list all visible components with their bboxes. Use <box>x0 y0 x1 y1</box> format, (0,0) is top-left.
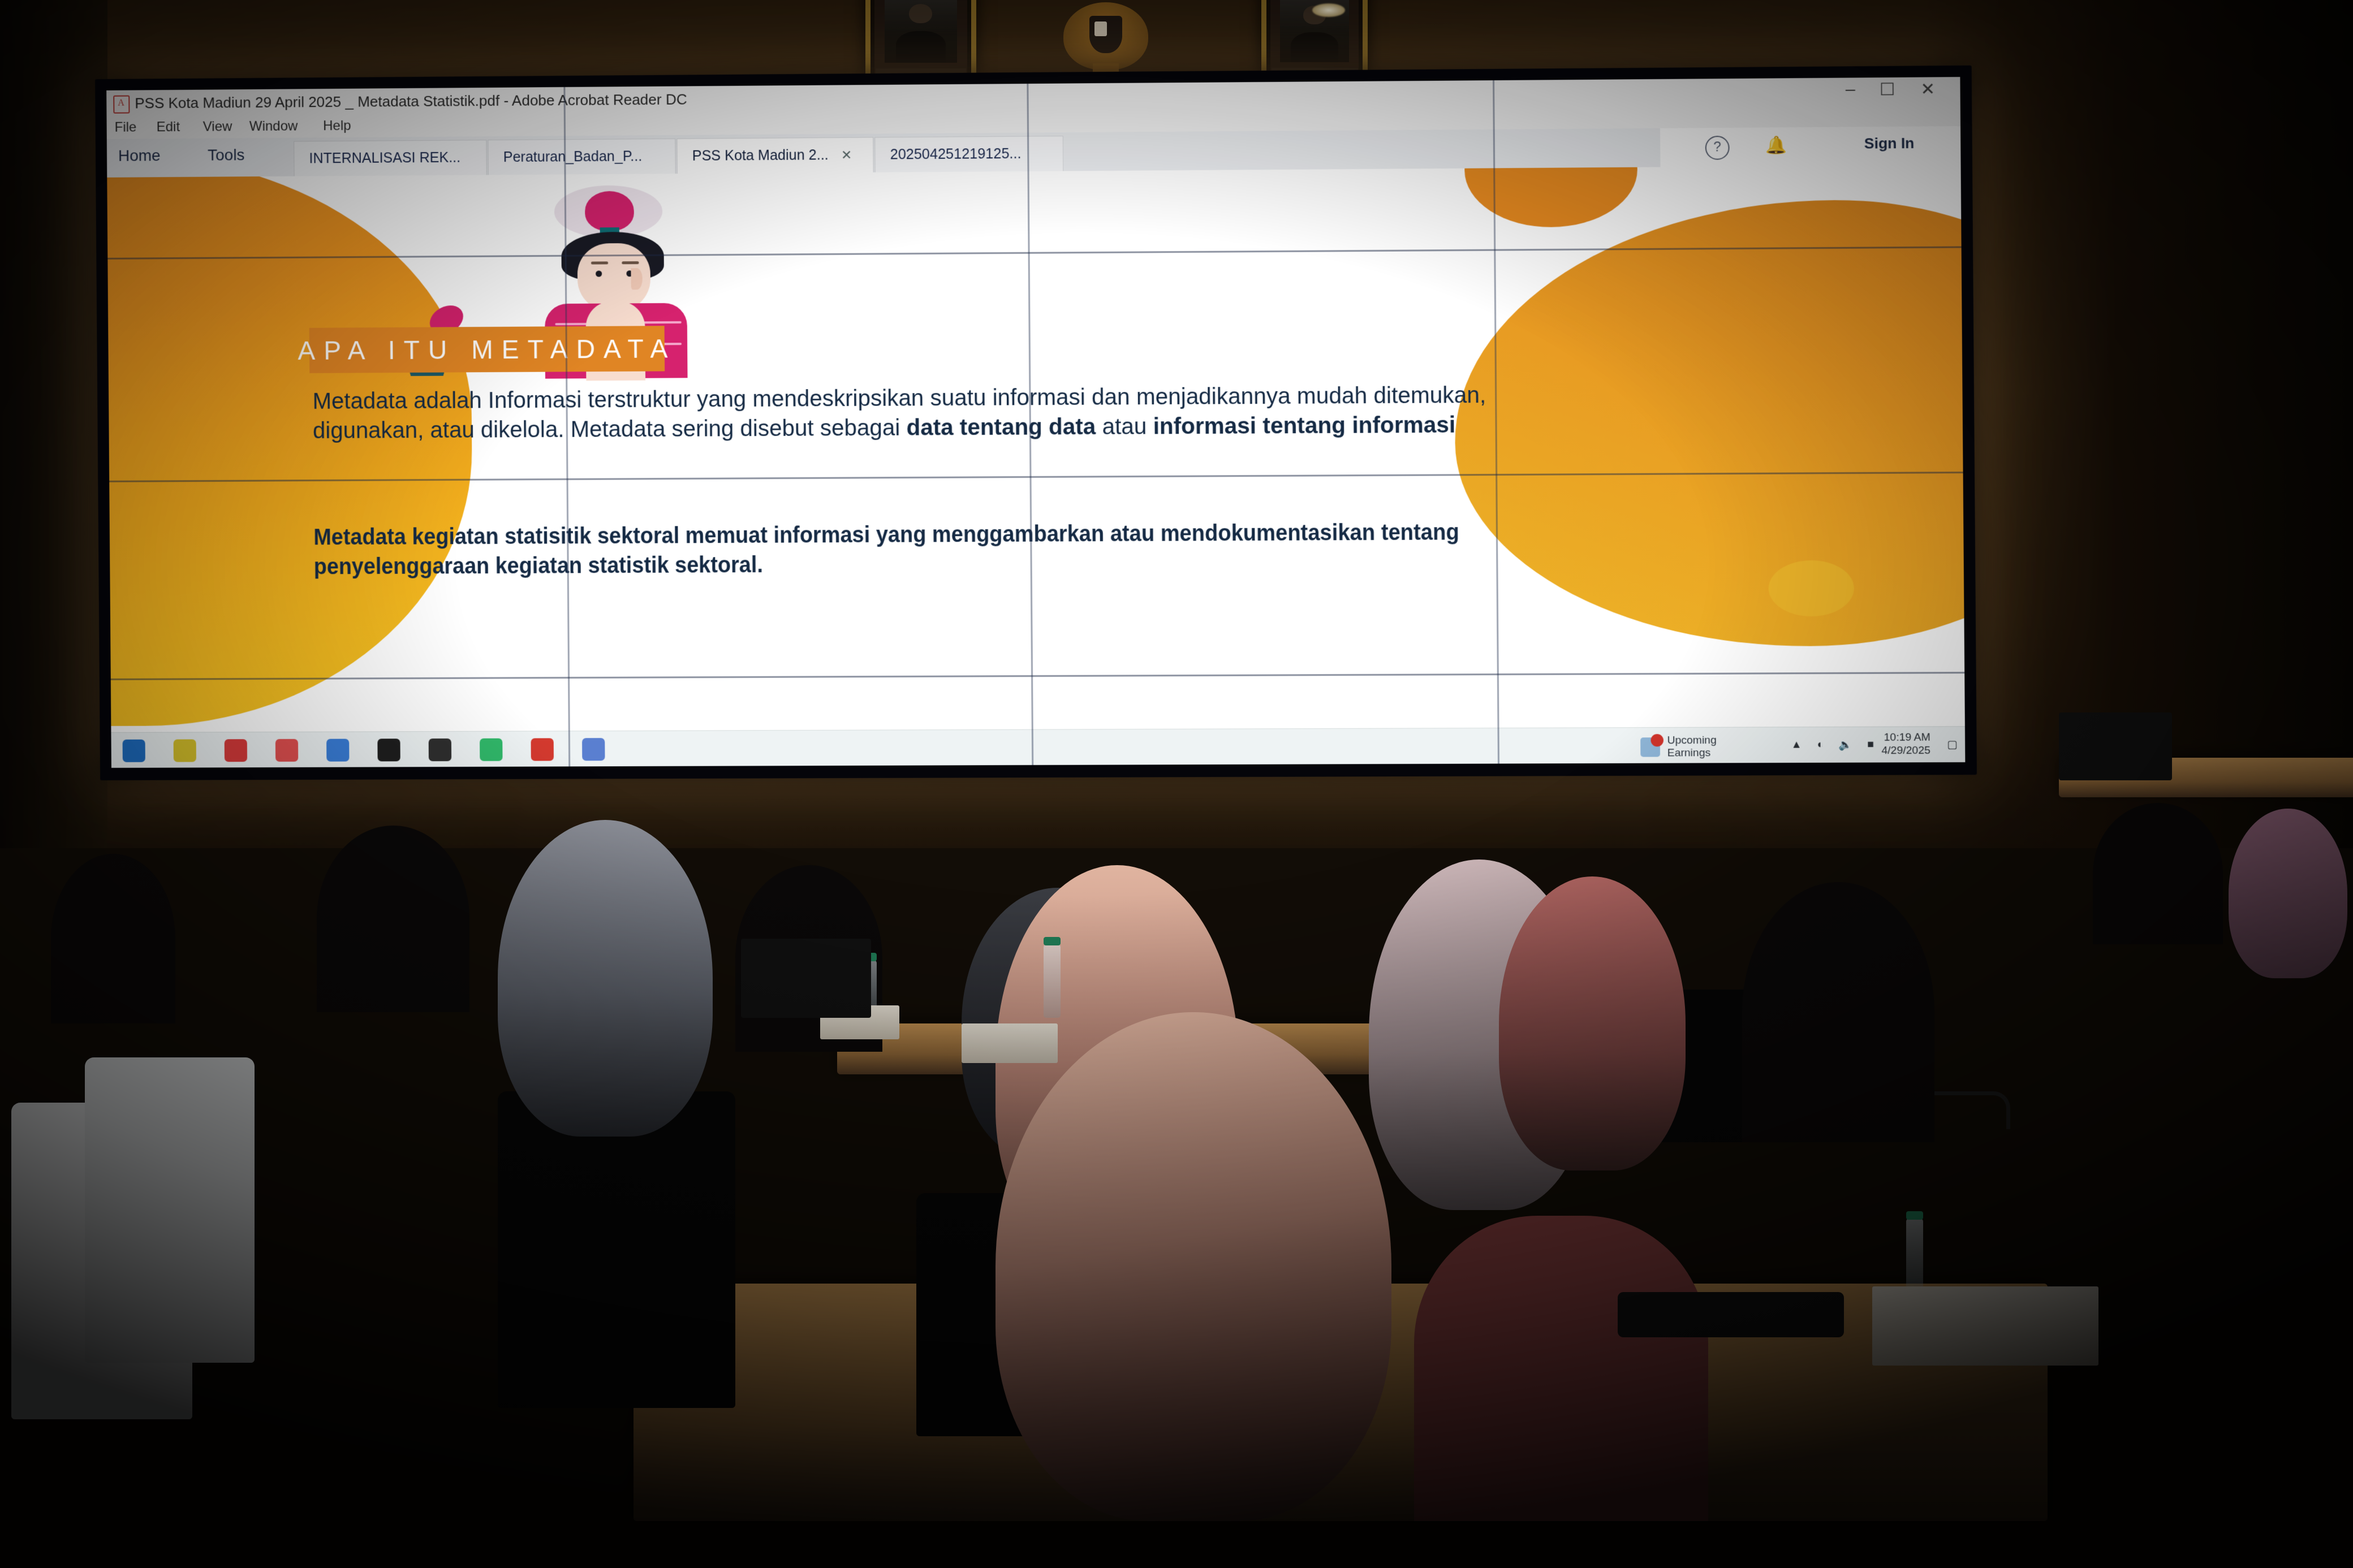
attendee-silhouette <box>317 826 469 1012</box>
attendee-silhouette <box>1742 882 1934 1142</box>
slide-title-banner: APA ITU METADATA <box>309 326 665 373</box>
white-chair <box>11 1103 192 1419</box>
menu-file[interactable]: File <box>115 119 137 135</box>
app-icon[interactable] <box>377 738 400 761</box>
volume-icon[interactable]: 🔈 <box>1839 738 1852 751</box>
snack-box <box>820 1005 899 1039</box>
attendee-hijab <box>498 820 713 1137</box>
acrobat-pdf-icon <box>113 96 130 114</box>
water-bottle <box>1044 944 1061 1018</box>
shirt-pattern <box>641 321 682 323</box>
wall-shadow-right <box>1923 0 2353 848</box>
para1-text-mid: atau <box>1096 414 1153 439</box>
sign-in-button[interactable]: Sign In <box>1864 135 1915 153</box>
notification-title: Upcoming <box>1667 735 1716 747</box>
minimize-button[interactable]: – <box>1833 80 1868 100</box>
tab-numeric-doc[interactable]: 202504251219125... <box>874 136 1063 172</box>
screen-surface: PSS Kota Madiun 29 April 2025 _ Metadata… <box>106 77 1965 768</box>
clock-time: 10:19 AM <box>1881 732 1930 745</box>
tab-internalisasi[interactable]: INTERNALISASI REK... <box>294 140 487 176</box>
menu-window[interactable]: Window <box>249 118 298 135</box>
laptop <box>741 939 871 1018</box>
person-brow-left <box>591 261 608 264</box>
lightbulb-icon <box>585 191 634 231</box>
water-bottle <box>1906 1219 1923 1303</box>
portrait-photo <box>885 0 957 63</box>
right-action-bar: ? 🔔 Sign In <box>1660 126 1961 167</box>
snack-box <box>962 1023 1058 1063</box>
app-icon[interactable] <box>275 739 298 762</box>
office-chair <box>498 1091 735 1408</box>
bell-icon[interactable]: 🔔 <box>1765 135 1787 155</box>
meeting-table <box>837 1023 1550 1074</box>
meeting-table <box>633 1284 2048 1521</box>
attendee-hijab <box>1369 859 1589 1210</box>
taskbar-clock[interactable]: 10:19 AM 4/29/2025 <box>1881 732 1930 758</box>
snack-box <box>1872 1286 2098 1366</box>
para1-bold-1: data tentang data <box>906 414 1096 440</box>
meeting-room-scene: PSS Kota Madiun 29 April 2025 _ Metadata… <box>0 0 2353 1568</box>
office-chair <box>1550 990 1787 1142</box>
attendee-silhouette <box>51 854 175 1023</box>
slide-title: APA ITU METADATA <box>298 333 676 366</box>
alert-badge-icon <box>1641 737 1661 757</box>
windows-taskbar: Upcoming Earnings ▲ ◐ 🔈 ■ 10:19 AM 4/29/… <box>111 726 1965 768</box>
portrait-suit <box>896 31 945 63</box>
badge-dot <box>1651 734 1664 746</box>
attendee-foreground-shoulder <box>1414 1216 1708 1521</box>
start-icon[interactable] <box>123 740 145 762</box>
action-center-icon[interactable]: ▢ <box>1947 738 1958 751</box>
excel-icon[interactable] <box>480 738 502 761</box>
person-brow-right <box>622 261 639 264</box>
menu-edit[interactable]: Edit <box>157 119 180 135</box>
laptop <box>1618 1292 1844 1337</box>
tab-peraturan-badan[interactable]: Peraturan_Badan_P... <box>488 139 675 175</box>
chevron-up-icon[interactable]: ▲ <box>1791 738 1802 751</box>
battery-icon[interactable]: ■ <box>1867 738 1874 751</box>
clock-date: 4/29/2025 <box>1881 745 1930 758</box>
bottle-cap <box>1906 1211 1923 1220</box>
notification-subtitle: Earnings <box>1667 747 1717 759</box>
window-title: PSS Kota Madiun 29 April 2025 _ Metadata… <box>135 90 687 112</box>
decorative-blob-top-right <box>1464 165 1638 228</box>
tools-button[interactable]: Tools <box>208 146 245 164</box>
menu-view[interactable]: View <box>203 119 232 135</box>
portrait-suit <box>1291 32 1338 63</box>
attendee-foreground-hijab <box>996 1012 1391 1521</box>
office-chair <box>916 1193 1210 1436</box>
emblem-shield <box>1089 16 1122 53</box>
white-chair <box>85 1057 255 1363</box>
attendee-hijab <box>996 865 1239 1261</box>
app-icon[interactable] <box>225 739 247 762</box>
home-button[interactable]: Home <box>118 146 161 165</box>
wall-shadow-left <box>0 0 107 848</box>
notification-toast[interactable]: Upcoming Earnings <box>1641 735 1717 760</box>
decorative-dot <box>1768 560 1854 617</box>
question-circle-icon[interactable]: ? <box>1705 136 1730 160</box>
menu-help[interactable]: Help <box>323 118 351 134</box>
person-eye-left <box>596 271 602 277</box>
maximize-button[interactable]: ☐ <box>1870 80 1905 100</box>
file-explorer-icon[interactable] <box>174 739 196 762</box>
chrome-icon[interactable] <box>326 739 349 762</box>
system-tray: ▲ ◐ 🔈 ■ 10:19 AM 4/29/2025 ▢ <box>1783 727 1965 763</box>
slide-paragraph-1: Metadata adalah Informasi terstruktur ya… <box>312 380 1512 446</box>
shirt-pattern <box>555 323 590 325</box>
portrait-head <box>909 4 932 23</box>
chair-armrest <box>1867 1091 2010 1129</box>
decorative-blob-right <box>1453 198 1965 647</box>
para1-bold-2: informasi tentang informasi <box>1153 412 1455 439</box>
wifi-icon[interactable]: ◐ <box>1817 738 1824 751</box>
ceiling-light <box>1312 3 1345 17</box>
acrobat-taskbar-icon[interactable] <box>531 738 554 761</box>
tab-close-icon[interactable]: ✕ <box>841 148 852 162</box>
bottle-cap <box>1044 937 1061 945</box>
bottle-cap <box>860 953 877 961</box>
tab-label: PSS Kota Madiun 2... <box>692 147 829 164</box>
water-bottle <box>860 960 877 1022</box>
attendee-silhouette <box>735 865 882 1052</box>
notification-text: Upcoming Earnings <box>1667 735 1717 759</box>
close-button[interactable]: ✕ <box>1910 79 1945 100</box>
video-wall-display: PSS Kota Madiun 29 April 2025 _ Metadata… <box>95 66 1977 780</box>
attendee-hijab <box>1499 876 1686 1170</box>
tab-pss-kota-madiun[interactable]: PSS Kota Madiun 2...✕ <box>676 137 873 174</box>
attendee-hijab <box>962 888 1154 1159</box>
app-icon[interactable] <box>582 738 605 761</box>
app-icon[interactable] <box>429 738 451 761</box>
person-nose <box>631 268 642 290</box>
slide-paragraph-2: Metadata kegiatan statisitik sektoral me… <box>313 517 1528 581</box>
